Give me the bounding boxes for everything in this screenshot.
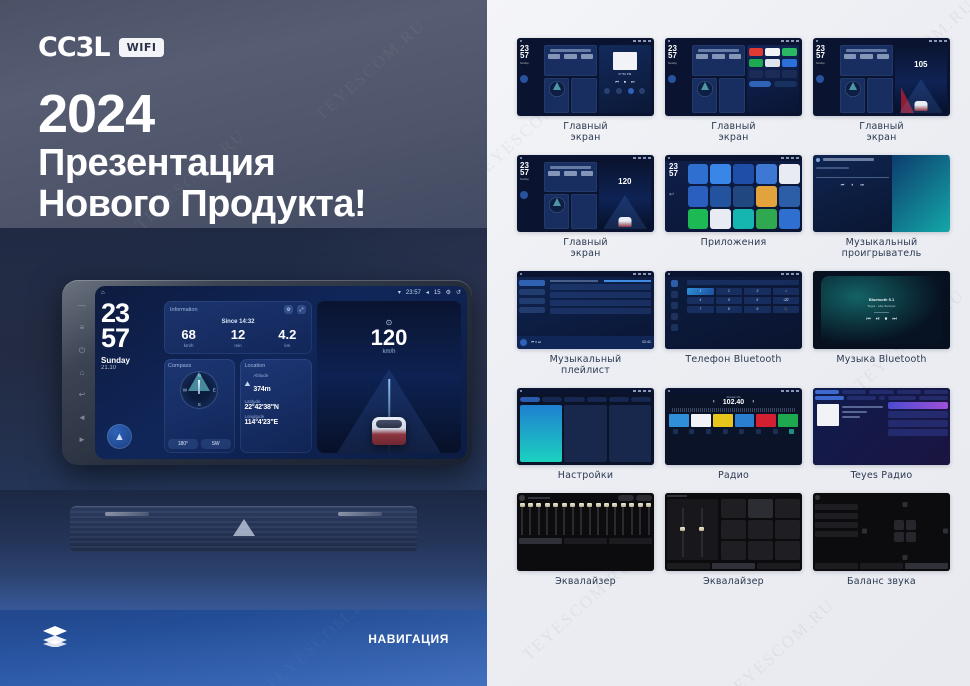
expand-icon[interactable]: ⤢ — [297, 305, 306, 314]
thumb-settings — [517, 394, 654, 465]
stat-value: 68 — [164, 328, 213, 341]
side-button-minus-icon[interactable]: — — [78, 301, 87, 310]
grid-item[interactable]: 2357Sunday 120 Главный экран — [517, 155, 654, 261]
screenshot-thumbnail[interactable]: 2357↩ — [665, 155, 802, 233]
compass-dial: N S E W — [180, 371, 218, 409]
thumb-speed: 105 — [895, 60, 947, 69]
grid-item[interactable]: Teyes Радио — [813, 388, 950, 483]
product-logo: CC3L WIFI — [38, 32, 164, 63]
navigation-arrow-icon[interactable]: ▲ — [107, 424, 132, 449]
vehicle-avatar — [372, 417, 406, 445]
side-button-back-icon[interactable]: ↩ — [78, 390, 87, 399]
grid-item[interactable]: Эквалайзер — [665, 493, 802, 588]
altitude-key: Altitude — [253, 373, 270, 378]
thumb-bt-phone: 123☆ 456⌫ 789📞 — [665, 277, 802, 348]
stat-unit: km — [263, 343, 312, 348]
navigation-label: НАВИГАЦИЯ — [368, 632, 449, 646]
grid-item[interactable]: ⏮⏸⏭ Музыкальный проигрыватель — [813, 155, 950, 261]
altitude-value: 374m — [253, 386, 270, 393]
bt-subtitle: Teyes · Like Summer — [866, 304, 897, 308]
thumb-app-drawer: 2357↩ — [665, 161, 802, 232]
longitude-row: Longitude 114°4'23"E — [245, 414, 308, 426]
thumb-road-view: 105 — [895, 45, 947, 112]
screenshot-thumbnail[interactable]: 2357Sunday 105 — [813, 38, 950, 116]
grid-item[interactable]: Bluetooth 5.1 Teyes · Like Summer ⏮⏯⏹⏭ М… — [813, 271, 950, 377]
logo-text: CC3L — [38, 32, 110, 63]
thumbnail-caption: Эквалайзер — [555, 577, 616, 588]
gear-icon[interactable]: ⚙ — [284, 305, 293, 314]
location-card[interactable]: Location ⛰ Altitude 374m — [240, 359, 313, 453]
status-bar: ⌂ ▾ 23:57 ◂ 15 ⚙ ↺ — [95, 286, 467, 299]
stat-duration: 12 min — [213, 328, 262, 348]
thumb-music-panel: 07:50 PM ⏮⏹⏭ — [599, 45, 651, 112]
title-line-1: Презентация — [38, 143, 366, 184]
speed-readout: ⊙ 120 km/h — [317, 318, 461, 355]
compass-heading: 180° — [168, 439, 198, 449]
grid-item[interactable]: 2357↩ Приложения — [665, 155, 802, 261]
latitude-value: 22°42'38"N — [245, 404, 308, 411]
speed-value: 120 — [317, 327, 461, 349]
longitude-value: 114°4'23"E — [245, 419, 308, 426]
grid-item[interactable]: ⏮ ⏸ ⏭02:41 Музыкальный плейлист — [517, 271, 654, 377]
thumbnail-caption: Главный экран — [563, 238, 608, 260]
radio-frequency: 102.40 — [723, 399, 744, 406]
compass-north: N — [198, 373, 201, 378]
information-label: Information — [170, 307, 198, 313]
stat-unit: min — [213, 343, 262, 348]
thumbnail-caption: Музыкальный плейлист — [550, 355, 622, 377]
screen-body: 23 57 Sunday 21.10 ▲ Information — [95, 299, 467, 459]
year-label: 2024 — [38, 86, 366, 143]
thumbnail-caption: Эквалайзер — [703, 577, 764, 588]
screenshot-thumbnail[interactable] — [813, 388, 950, 466]
screenshot-thumbnail[interactable] — [813, 493, 950, 571]
vent-slat-left — [105, 512, 149, 516]
screenshot-thumbnail[interactable]: 2357Sunday 07:50 PM ⏮⏹⏭ — [517, 38, 654, 116]
side-button-prev-icon[interactable]: ◄ — [78, 413, 87, 422]
screens-grid: 2357Sunday 07:50 PM ⏮⏹⏭ Главный экран — [517, 38, 950, 588]
grid-item[interactable]: 2357Sunday 07:50 PM ⏮⏹⏭ Главный экран — [517, 38, 654, 144]
thumbnail-caption: Музыкальный проигрыватель — [842, 238, 922, 260]
title-line-2: Нового Продукта! — [38, 184, 366, 225]
thumbnail-caption: Главный экран — [859, 122, 904, 144]
layers-icon — [42, 625, 68, 652]
compass-card[interactable]: Compass N S E W — [164, 359, 235, 453]
lower-widgets: Compass N S E W — [164, 359, 312, 453]
stat-unit: km/h — [164, 343, 213, 348]
information-header: Information ⚙ ⤢ — [164, 301, 312, 315]
thumb-music-player: ⏮⏸⏭ — [813, 155, 950, 233]
screenshot-thumbnail[interactable]: Bluetooth 5.1 Teyes · Like Summer ⏮⏯⏹⏭ — [813, 271, 950, 349]
thumbnail-caption: Музыка Bluetooth — [836, 355, 926, 366]
thumbnail-caption: Teyes Радио — [851, 471, 913, 482]
thumb-road-view: 120 — [599, 162, 651, 229]
home-icon[interactable]: ⌂ — [101, 290, 105, 296]
hero-title: 2024 Презентация Нового Продукта! — [38, 86, 366, 225]
mountain-icon: ⛰ — [245, 381, 251, 389]
thumb-speed: 120 — [599, 177, 651, 186]
grid-item[interactable]: Эквалайзер — [517, 493, 654, 588]
thumb-equalizer — [517, 493, 654, 571]
compass-readout: 180° SW — [168, 439, 231, 449]
side-button-home-icon[interactable]: ⌂ — [78, 368, 87, 377]
since-label: Since 14:32 — [164, 319, 312, 325]
road-view-widget[interactable]: ⊙ 120 km/h — [317, 301, 461, 453]
thumb-bt-music: Bluetooth 5.1 Teyes · Like Summer ⏮⏯⏹⏭ — [813, 271, 950, 349]
side-button-next-icon[interactable]: ► — [78, 435, 87, 444]
side-button-plus-icon[interactable]: ≡ — [78, 323, 87, 332]
thumb-app-shortcuts — [747, 45, 799, 112]
screenshot-thumbnail[interactable] — [665, 493, 802, 571]
screenshot-thumbnail[interactable] — [517, 388, 654, 466]
screenshot-thumbnail[interactable]: Russian FM ‹102.40› — [665, 388, 802, 466]
head-unit-side-buttons[interactable]: — ≡ ⏻ ⌂ ↩ ◄ ► — [69, 286, 95, 459]
clock-date: 21.10 — [101, 365, 159, 371]
compass-direction: SW — [201, 439, 231, 449]
thumbnail-caption: Телефон Bluetooth — [685, 355, 781, 366]
grid-item[interactable]: Russian FM ‹102.40› Радио — [665, 388, 802, 483]
clock-day: Sunday — [101, 356, 159, 365]
hero-footer-glow — [0, 576, 487, 686]
stat-value: 4.2 — [263, 328, 312, 341]
screenshot-thumbnail[interactable]: ⏮⏸⏭ — [813, 155, 950, 233]
compass-label: Compass — [168, 363, 231, 369]
wifi-icon: ▾ — [398, 289, 401, 296]
stat-distance: 4.2 km — [263, 328, 312, 348]
screenshot-thumbnail[interactable]: ⏮ ⏸ ⏭02:41 — [517, 271, 654, 349]
watermark: TEYESCOM.RU — [720, 595, 839, 686]
thumb-radio: Russian FM ‹102.40› — [665, 394, 802, 465]
clock-minutes: 57 — [101, 326, 159, 351]
volume-icon[interactable]: ◂ — [426, 289, 429, 296]
grid-item[interactable]: 123☆ 456⌫ 789📞 Телефон Bluetooth — [665, 271, 802, 377]
clock-widget[interactable]: 23 57 Sunday 21.10 ▲ — [101, 301, 159, 453]
compass-needle — [198, 380, 200, 394]
thumb-teyes-radio — [813, 388, 950, 466]
thumb-playlist: ⏮ ⏸ ⏭02:41 — [517, 277, 654, 348]
screenshot-thumbnail[interactable]: 123☆ 456⌫ 789📞 — [665, 271, 802, 349]
widget-column: Information ⚙ ⤢ Since 14:32 68 — [164, 301, 312, 453]
grid-item[interactable]: Настройки — [517, 388, 654, 483]
thumb-equalizer-2 — [665, 493, 802, 571]
screenshot-thumbnail[interactable]: 2357Sunday — [665, 38, 802, 116]
thumbnail-caption: Настройки — [558, 471, 613, 482]
thumb-sound-balance — [813, 493, 950, 571]
hazard-triangle-icon — [233, 519, 255, 536]
head-unit-screen: ⌂ ▾ 23:57 ◂ 15 ⚙ ↺ 23 57 — [95, 286, 467, 459]
compass-west: W — [183, 388, 187, 393]
head-unit: — ≡ ⏻ ⌂ ↩ ◄ ► ⌂ ▾ 23:57 ◂ 15 — [62, 280, 472, 465]
bt-title: Bluetooth 5.1 — [866, 297, 897, 302]
trip-stats: 68 km/h 12 min 4.2 km — [164, 328, 312, 348]
thumbnail-caption: Главный экран — [711, 122, 756, 144]
thumbnail-caption: Приложения — [701, 238, 767, 249]
stat-value: 12 — [213, 328, 262, 341]
grid-item[interactable]: 2357Sunday — [665, 38, 802, 144]
screens-gallery-panel: TEYESCOM.RU TEYESCOM.RU TEYESCOM.RU TEYE… — [487, 0, 970, 686]
back-icon[interactable]: ↺ — [456, 289, 461, 296]
grid-item[interactable]: 2357Sunday 105 Главный экран — [813, 38, 950, 144]
screenshot-thumbnail[interactable] — [517, 493, 654, 571]
altitude-row: ⛰ Altitude 374m — [245, 373, 308, 396]
volume-level: 15 — [434, 290, 441, 296]
thumbnail-caption: Главный экран — [563, 122, 608, 144]
gear-icon[interactable]: ⚙ — [446, 289, 451, 296]
hero-panel: TEYESCOM.RU TEYESCOM.RU TEYESCOM.RU TEYE… — [0, 0, 487, 686]
latitude-row: Latitude 22°42'38"N — [245, 399, 308, 411]
location-label: Location — [245, 363, 308, 369]
speed-unit: km/h — [317, 349, 461, 355]
stat-speed: 68 km/h — [164, 328, 213, 348]
compass-south: S — [198, 402, 201, 407]
wifi-badge: WIFI — [119, 38, 165, 57]
presentation-slide: TEYESCOM.RU TEYESCOM.RU TEYESCOM.RU TEYE… — [0, 0, 970, 686]
compass-east: E — [213, 388, 216, 393]
grid-item[interactable]: Баланс звука — [813, 493, 950, 588]
thumb-clock: 2357Sunday — [520, 45, 542, 112]
thumbnail-caption: Радио — [718, 471, 749, 482]
thumbnail-caption: Баланс звука — [847, 577, 916, 588]
information-card[interactable]: Information ⚙ ⤢ Since 14:32 68 — [164, 301, 312, 354]
side-button-power-icon[interactable]: ⏻ — [78, 346, 87, 355]
screenshot-thumbnail[interactable]: 2357Sunday 120 — [517, 155, 654, 233]
vent-slat-right — [338, 512, 382, 516]
status-clock: 23:57 — [406, 290, 421, 296]
